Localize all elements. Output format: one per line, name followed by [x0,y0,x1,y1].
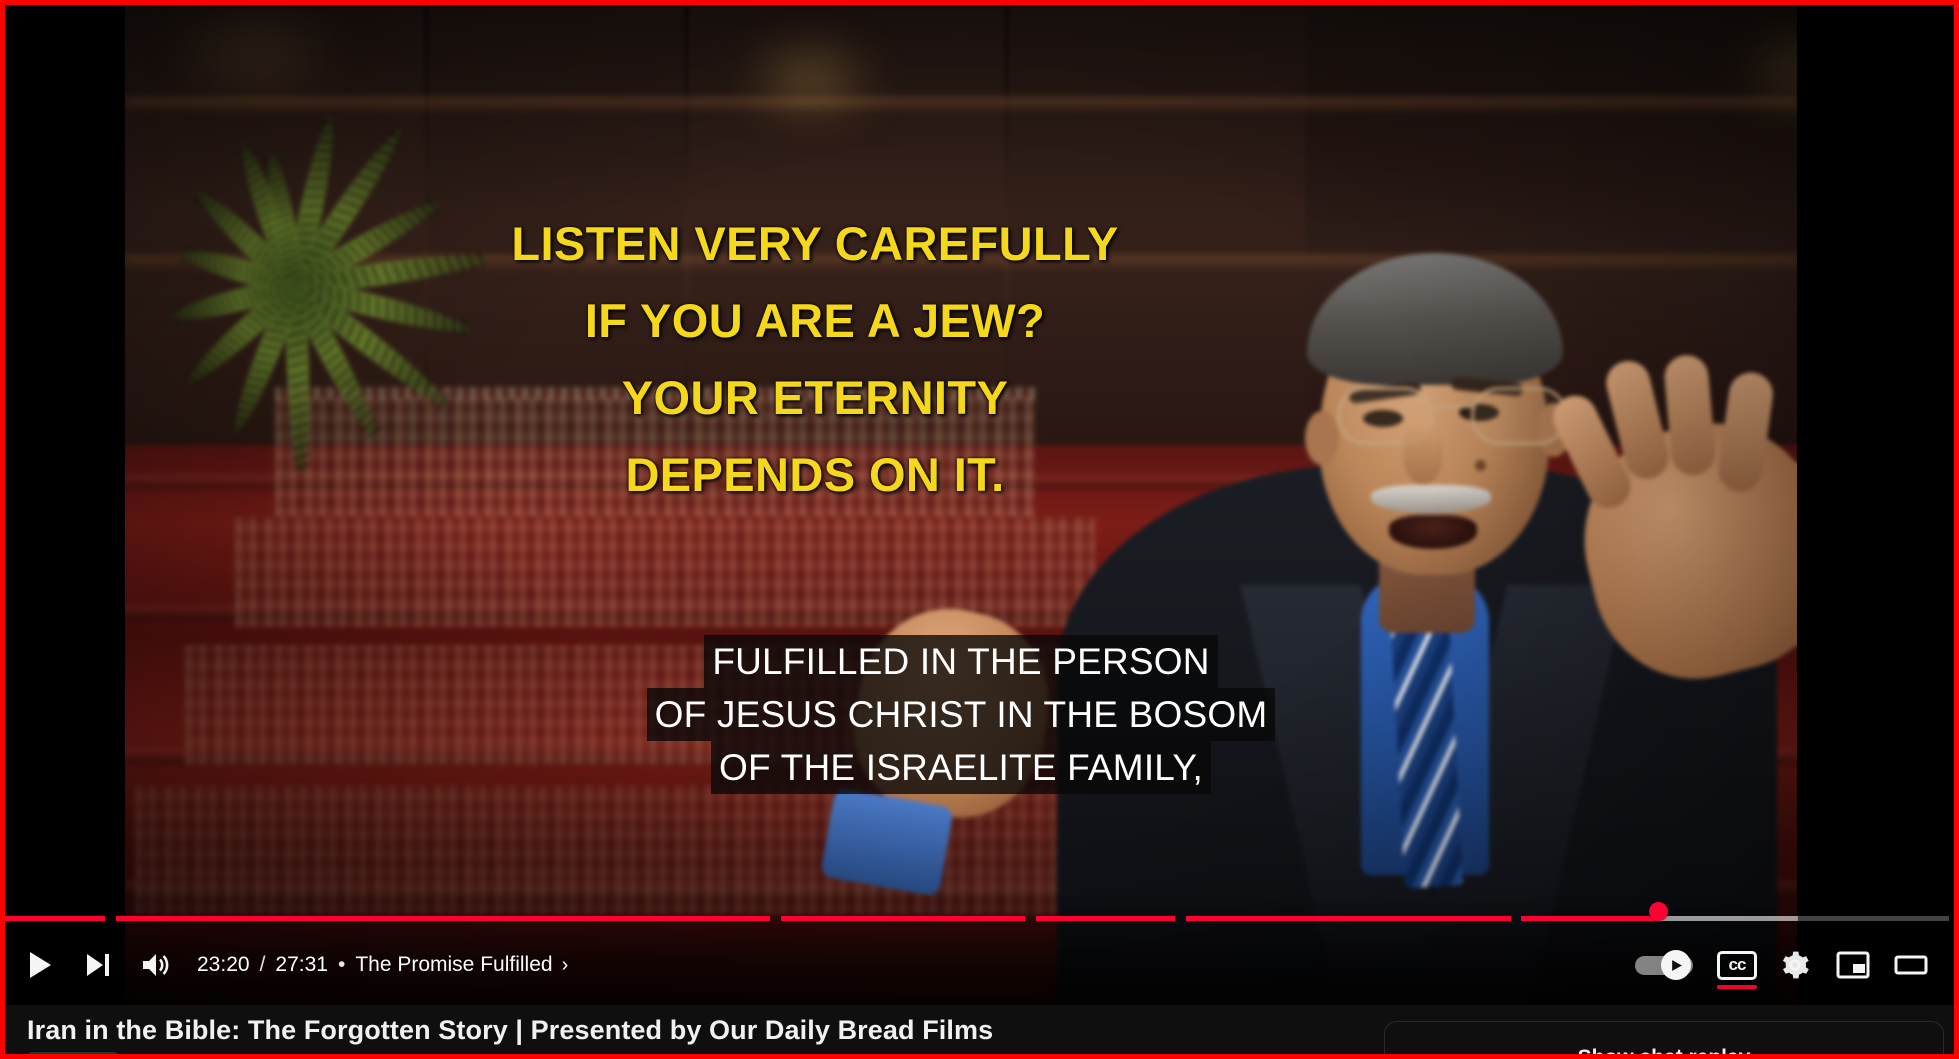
theater-mode-button[interactable] [1882,936,1940,994]
current-time: 23:20 [197,953,250,977]
player-control-bar[interactable]: 23:20 / 27:31 • The Promise Fulfilled › [5,897,1954,1005]
progress-scrubber-handle[interactable] [1649,902,1668,921]
progress-chapter-segment[interactable] [5,916,105,921]
subtitles-cc-button[interactable]: cc [1708,936,1766,994]
mustache [1371,485,1491,513]
browser-screenshot-frame: LISTEN VERY CAREFULLY IF YOU ARE A JEW? … [0,0,1959,1059]
bullet-separator: • [338,953,345,977]
facial-mole [1475,460,1486,471]
control-buttons-row: 23:20 / 27:31 • The Promise Fulfilled › [5,933,1954,997]
progress-bar[interactable] [5,907,1954,929]
progress-chapter-segment[interactable] [116,916,770,921]
video-metadata-section: Iran in the Bible: The Forgotten Story |… [5,1005,1954,1054]
nose [1403,423,1443,485]
progress-played [1036,916,1175,921]
hair [1307,253,1563,385]
settings-button[interactable] [1766,936,1824,994]
autoplay-toggle[interactable] [1635,950,1697,980]
video-viewport[interactable]: LISTEN VERY CAREFULLY IF YOU ARE A JEW? … [5,5,1954,1005]
eyeglasses [1337,387,1567,449]
autoplay-knob [1661,950,1691,980]
miniplayer-button[interactable] [1824,936,1882,994]
show-chat-replay-label[interactable]: Show chat replay [1385,1046,1943,1054]
video-frame-content: LISTEN VERY CAREFULLY IF YOU ARE A JEW? … [125,5,1797,1005]
closed-captions-icon: cc [1717,951,1757,980]
speaker-person [1067,5,1767,1005]
progress-chapter-segment[interactable] [781,916,1026,921]
time-divider: / [260,953,266,977]
progress-played [1186,916,1511,921]
progress-played [1521,916,1657,921]
autoplay-button[interactable] [1624,936,1708,994]
next-track-icon [85,952,111,978]
next-video-button[interactable] [69,936,127,994]
gear-icon [1779,949,1811,981]
volume-button[interactable] [127,936,185,994]
play-pause-button[interactable] [11,936,69,994]
play-icon [27,951,53,979]
ear [1305,411,1339,465]
video-title[interactable]: Iran in the Bible: The Forgotten Story |… [27,1015,993,1046]
progress-chapter-segment[interactable] [1186,916,1511,921]
play-icon [1670,959,1683,972]
theater-mode-icon [1894,950,1928,980]
progress-chapter-segment[interactable] [1521,916,1949,921]
total-duration: 27:31 [275,953,328,977]
fundraiser-badge[interactable]: Fundraiser [27,1052,119,1054]
cc-active-indicator [1717,985,1757,989]
progress-played [5,916,105,921]
potted-fern-plant [125,65,475,485]
left-controls-group: 23:20 / 27:31 • The Promise Fulfilled › [5,936,568,994]
chevron-right-icon: › [562,954,569,977]
time-and-chapter-display: 23:20 / 27:31 • The Promise Fulfilled › [197,953,568,977]
chapter-title-text: The Promise Fulfilled [355,953,552,977]
volume-high-icon [141,952,171,978]
progress-chapter-segment[interactable] [1036,916,1175,921]
chapter-title-link[interactable]: The Promise Fulfilled › [355,953,568,977]
mouth [1389,515,1477,549]
progress-played [781,916,1026,921]
youtube-video-player[interactable]: LISTEN VERY CAREFULLY IF YOU ARE A JEW? … [5,5,1954,1005]
chat-replay-panel[interactable]: Show chat replay [1384,1021,1944,1054]
progress-played [116,916,770,921]
miniplayer-icon [1836,950,1870,980]
right-controls-group: cc [1624,936,1954,994]
